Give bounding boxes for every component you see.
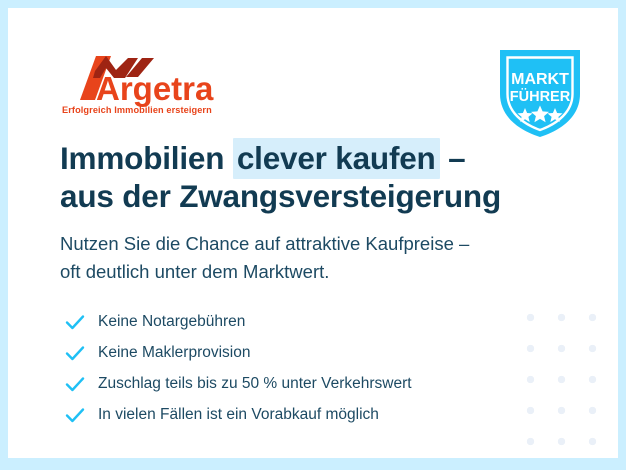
list-item: Zuschlag teils bis zu 50 % unter Verkehr… xyxy=(64,368,534,399)
check-icon xyxy=(64,311,86,333)
argetra-logo: Argetra Erfolgreich Immobilien ersteiger… xyxy=(62,54,242,116)
promo-card: Argetra Erfolgreich Immobilien ersteiger… xyxy=(8,8,618,458)
headline-line-2: aus der Zwangsversteigerung xyxy=(60,177,560,215)
argetra-logo-svg: Argetra Erfolgreich Immobilien ersteiger… xyxy=(62,54,242,116)
shield-icon: MARKT FÜHRER xyxy=(494,44,586,140)
list-item: In vielen Fällen ist ein Vorabkauf mögli… xyxy=(64,399,534,430)
headline-line-1: Immobilien clever kaufen – xyxy=(60,139,560,177)
subtitle-line-1: Nutzen Sie die Chance auf attraktive Kau… xyxy=(60,230,580,258)
page-subtitle: Nutzen Sie die Chance auf attraktive Kau… xyxy=(60,230,580,286)
marktfuehrer-badge: MARKT FÜHRER xyxy=(494,44,586,140)
list-item: Keine Maklerprovision xyxy=(64,337,534,368)
logo-wordmark: Argetra xyxy=(96,70,214,107)
page-title: Immobilien clever kaufen – aus der Zwang… xyxy=(60,139,560,215)
headline-post: – xyxy=(440,140,466,176)
list-item-label: Keine Notargebühren xyxy=(98,313,245,331)
headline-highlight: clever kaufen xyxy=(233,138,440,179)
check-icon xyxy=(64,373,86,395)
headline-pre: Immobilien xyxy=(60,140,233,176)
subtitle-line-2: oft deutlich unter dem Marktwert. xyxy=(60,258,580,286)
list-item: Keine Notargebühren xyxy=(64,306,534,337)
list-item-label: In vielen Fällen ist ein Vorabkauf mögli… xyxy=(98,406,379,424)
list-item-label: Zuschlag teils bis zu 50 % unter Verkehr… xyxy=(98,375,412,393)
badge-line-2: FÜHRER xyxy=(510,88,571,105)
check-icon xyxy=(64,404,86,426)
badge-line-1: MARKT xyxy=(511,71,569,88)
check-icon xyxy=(64,342,86,364)
benefits-list: Keine Notargebühren Keine Maklerprovisio… xyxy=(64,306,534,430)
list-item-label: Keine Maklerprovision xyxy=(98,344,251,362)
logo-tagline: Erfolgreich Immobilien ersteigern xyxy=(62,105,212,115)
